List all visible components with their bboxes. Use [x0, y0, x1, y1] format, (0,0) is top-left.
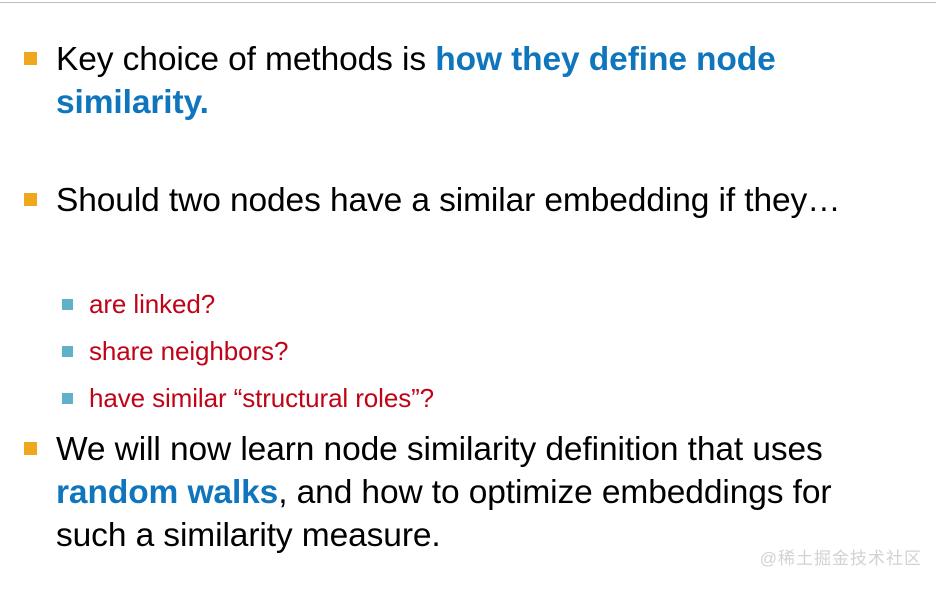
- site-watermark: @稀土掘金技术社区: [760, 549, 922, 569]
- bullet-item-3: We will now learn node similarity defini…: [24, 428, 908, 557]
- sub-bullet-item-1: are linked?: [62, 288, 902, 321]
- sub-bullet-item-3: have similar “structural roles”?: [62, 382, 902, 415]
- blue-square-bullet-icon: [62, 393, 73, 404]
- bullet-1-text: Key choice of methods is how they define…: [56, 38, 908, 124]
- blue-square-bullet-icon: [62, 346, 73, 357]
- slide-canvas: Key choice of methods is how they define…: [0, 0, 936, 591]
- bullet-3-text: We will now learn node similarity defini…: [56, 428, 908, 557]
- sub-bullet-item-2: share neighbors?: [62, 335, 902, 368]
- bullet-2-text: Should two nodes have a similar embeddin…: [56, 179, 908, 222]
- orange-square-bullet-icon: [24, 193, 37, 206]
- blue-square-bullet-icon: [62, 299, 73, 310]
- bullet-3-segment-plain-a: We will now learn node similarity defini…: [56, 431, 823, 468]
- bullet-1-segment-plain: Key choice of methods is: [56, 41, 435, 78]
- bullet-item-1: Key choice of methods is how they define…: [24, 38, 908, 124]
- bullet-item-2: Should two nodes have a similar embeddin…: [24, 179, 908, 222]
- sub-bullet-2-text: share neighbors?: [89, 335, 902, 368]
- bullet-2-segment-plain: Should two nodes have a similar embeddin…: [56, 182, 841, 219]
- sub-bullet-1-text: are linked?: [89, 288, 902, 321]
- slide-body: Key choice of methods is how they define…: [0, 0, 936, 591]
- orange-square-bullet-icon: [24, 52, 37, 65]
- bullet-3-segment-emphasis: random walks: [56, 474, 278, 511]
- orange-square-bullet-icon: [24, 442, 37, 455]
- sub-bullet-3-text: have similar “structural roles”?: [89, 382, 902, 415]
